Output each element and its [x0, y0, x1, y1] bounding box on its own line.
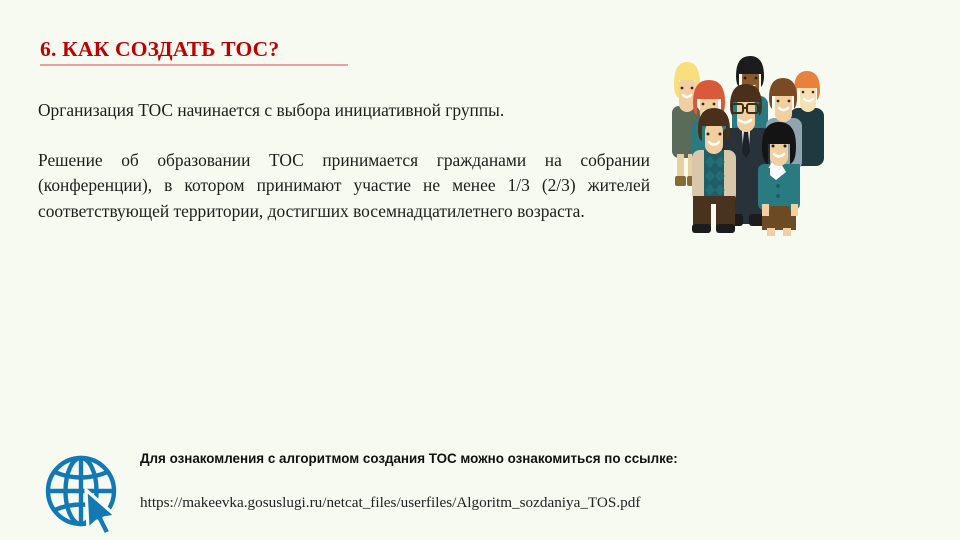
title-block: 6. КАК СОЗДАТЬ ТОС?	[40, 38, 350, 66]
group-of-people-illustration	[666, 46, 866, 236]
body-text-column: Организация ТОС начинается с выбора иниц…	[38, 98, 650, 224]
footer-text-group: Для ознакомления с алгоритмом создания Т…	[140, 450, 736, 513]
globe-cursor-icon	[38, 446, 134, 536]
footer-url-link[interactable]: https://makeevka.gosuslugi.ru/netcat_fil…	[140, 493, 736, 513]
paragraph-intro: Организация ТОС начинается с выбора иниц…	[38, 98, 650, 124]
title-underline-rule	[40, 64, 348, 66]
slide-canvas: 6. КАК СОЗДАТЬ ТОС? Организация ТОС начи…	[0, 0, 960, 540]
paragraph-decision: Решение об образовании ТОС принимается г…	[38, 148, 650, 225]
page-title: 6. КАК СОЗДАТЬ ТОС?	[40, 38, 350, 61]
person-man-argyle-vest	[692, 108, 736, 233]
footer-link-block: Для ознакомления с алгоритмом создания Т…	[38, 440, 738, 536]
footer-heading: Для ознакомления с алгоритмом создания Т…	[140, 450, 736, 467]
person-businesswoman-bob	[758, 122, 800, 236]
